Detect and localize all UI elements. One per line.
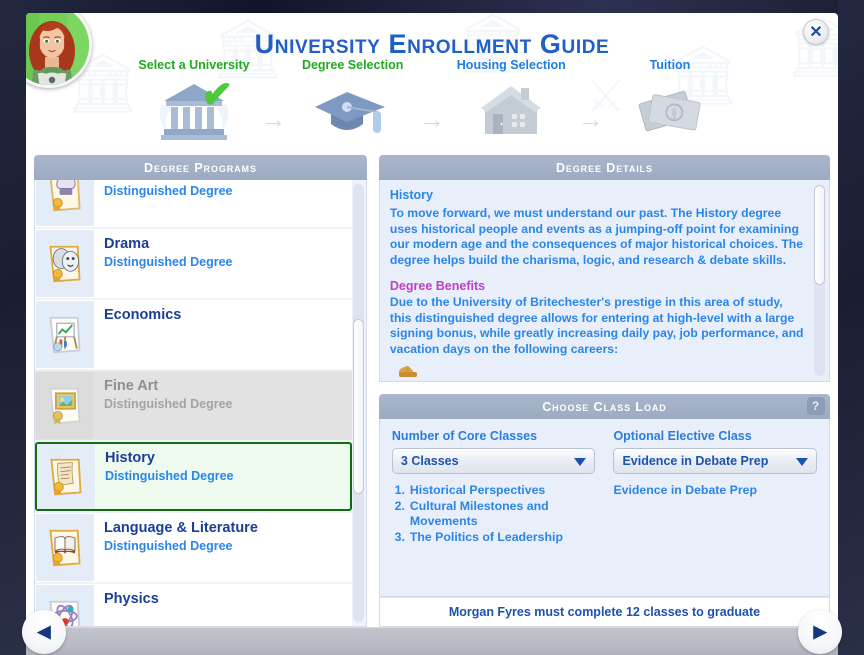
step-label: Select a University bbox=[134, 58, 254, 72]
degree-details-header: Degree Details bbox=[379, 155, 830, 180]
bottom-toolbar bbox=[26, 627, 838, 655]
scroll-diploma-icon bbox=[37, 444, 95, 509]
degree-name: Economics bbox=[104, 306, 181, 325]
degree-name: History bbox=[105, 449, 234, 468]
degree-details-panel: Degree Details History To move forward, … bbox=[379, 155, 830, 627]
list-item-text: Fine Art Distinguished Degree bbox=[94, 372, 233, 439]
step-arrow-icon: → bbox=[419, 104, 445, 135]
core-class-number: 2. bbox=[392, 499, 405, 529]
graduation-cap-icon bbox=[293, 76, 413, 144]
avatar bbox=[26, 13, 92, 88]
help-icon[interactable]: ? bbox=[807, 397, 825, 415]
elective-class-chosen: Evidence in Debate Prep bbox=[613, 483, 817, 498]
house-icon bbox=[451, 76, 571, 144]
list-item-text: Drama Distinguished Degree bbox=[94, 230, 233, 297]
screen: 🏛 🏛 🏛 🏛 🏛 ⚔ bbox=[0, 0, 864, 655]
core-class-name: The Politics of Leadership bbox=[410, 530, 563, 545]
class-load-body: Number of Core Classes 3 Classes 1. Hist… bbox=[379, 419, 830, 597]
status-suffix: classes to graduate bbox=[643, 605, 760, 619]
elective-class-column: Optional Elective Class Evidence in Deba… bbox=[613, 429, 817, 596]
degree-name: Drama bbox=[104, 235, 233, 254]
list-item[interactable]: Economics bbox=[35, 300, 352, 369]
page-title: University Enrollment Guide bbox=[26, 29, 838, 60]
elective-class-select[interactable]: Evidence in Debate Prep bbox=[613, 448, 817, 474]
core-classes-column: Number of Core Classes 3 Classes 1. Hist… bbox=[392, 429, 596, 596]
degree-details-title: History bbox=[390, 188, 807, 202]
book-diploma-icon bbox=[36, 514, 94, 581]
degree-benefits-text: Due to the University of Britechester's … bbox=[390, 295, 807, 357]
degree-programs-panel: Degree Programs bbox=[34, 155, 367, 627]
core-class-item: 1. Historical Perspectives bbox=[392, 483, 596, 498]
degree-benefits-heading: Degree Benefits bbox=[390, 279, 807, 293]
list-item-text: History Distinguished Degree bbox=[95, 444, 234, 509]
step-label: Tuition bbox=[610, 58, 730, 72]
choose-class-load-title: Choose Class Load bbox=[542, 400, 666, 414]
list-item-text: Physics bbox=[94, 585, 159, 627]
status-count: 12 bbox=[626, 605, 640, 619]
scrollbar-thumb[interactable] bbox=[814, 185, 825, 285]
chevron-down-icon bbox=[796, 458, 808, 466]
degree-details-body[interactable]: History To move forward, we must underst… bbox=[379, 180, 830, 382]
status-prefix: Morgan Fyres must complete bbox=[449, 605, 623, 619]
enrollment-dialog: 🏛 🏛 🏛 🏛 🏛 ⚔ bbox=[26, 13, 838, 627]
degree-list-scrollbar[interactable] bbox=[353, 184, 364, 622]
list-item-text: Language & Literature Distinguished Degr… bbox=[94, 514, 258, 581]
chart-easel-diploma-icon bbox=[36, 301, 94, 368]
list-item[interactable]: Culinary Arts Distinguished Degree bbox=[35, 180, 352, 227]
core-class-item: 2. Cultural Milestones and Movements bbox=[392, 499, 596, 529]
career-icon bbox=[390, 363, 430, 377]
step-housing-selection[interactable]: Housing Selection bbox=[451, 58, 571, 144]
step-progress: Select a University bbox=[134, 58, 730, 144]
degree-programs-header: Degree Programs bbox=[34, 155, 367, 180]
dialog-header: University Enrollment Guide ✕ Select a U… bbox=[26, 13, 838, 155]
graduation-requirement-status: Morgan Fyres must complete 12 classes to… bbox=[379, 597, 830, 627]
step-tuition[interactable]: Tuition § bbox=[610, 58, 730, 144]
core-class-name: Cultural Milestones and Movements bbox=[410, 499, 596, 529]
elective-class-selected-value: Evidence in Debate Prep bbox=[622, 454, 768, 468]
list-item-text: Culinary Arts Distinguished Degree bbox=[94, 180, 233, 226]
list-item-history[interactable]: History Distinguished Degree bbox=[35, 442, 352, 511]
degree-name: Fine Art bbox=[104, 377, 233, 396]
close-icon[interactable]: ✕ bbox=[803, 19, 829, 45]
core-class-item: 3. The Politics of Leadership bbox=[392, 530, 596, 545]
details-scrollbar[interactable] bbox=[814, 185, 825, 376]
next-button[interactable]: ▶ bbox=[798, 610, 842, 654]
degree-subtitle: Distinguished Degree bbox=[104, 538, 258, 555]
degree-description: To move forward, we must understand our … bbox=[390, 206, 807, 268]
step-select-a-university[interactable]: Select a University bbox=[134, 58, 254, 144]
step-arrow-icon: → bbox=[578, 104, 604, 135]
step-label: Housing Selection bbox=[451, 58, 571, 72]
list-item-text: Economics bbox=[94, 301, 181, 368]
list-item: Fine Art Distinguished Degree bbox=[35, 371, 352, 440]
previous-button[interactable]: ◀ bbox=[22, 610, 66, 654]
chef-hat-diploma-icon bbox=[36, 180, 94, 226]
step-arrow-icon: → bbox=[260, 104, 286, 135]
degree-name: Physics bbox=[104, 590, 159, 609]
content-panels: Degree Programs bbox=[26, 155, 838, 627]
choose-class-load-header: Choose Class Load ? bbox=[379, 394, 830, 419]
step-degree-selection[interactable]: Degree Selection bbox=[293, 58, 413, 144]
step-label: Degree Selection bbox=[293, 58, 413, 72]
core-class-number: 3. bbox=[392, 530, 405, 545]
avatar-portrait bbox=[26, 13, 92, 88]
list-item[interactable]: Language & Literature Distinguished Degr… bbox=[35, 513, 352, 582]
choose-class-load-section: Choose Class Load ? Number of Core Class… bbox=[379, 394, 830, 627]
degree-subtitle: Distinguished Degree bbox=[104, 396, 233, 413]
core-classes-selected-value: 3 Classes bbox=[401, 454, 459, 468]
list-item[interactable]: Physics bbox=[35, 584, 352, 627]
university-building-icon: ✔ bbox=[134, 76, 254, 144]
chevron-down-icon bbox=[574, 458, 586, 466]
degree-subtitle: Distinguished Degree bbox=[104, 254, 233, 271]
money-icon: § bbox=[610, 76, 730, 144]
game-background-left bbox=[0, 0, 26, 655]
elective-class-label: Optional Elective Class bbox=[613, 429, 817, 443]
painting-diploma-icon bbox=[36, 372, 94, 439]
game-background-right bbox=[838, 0, 864, 655]
degree-name: Language & Literature bbox=[104, 519, 258, 538]
theatre-masks-diploma-icon bbox=[36, 230, 94, 297]
core-class-number: 1. bbox=[392, 483, 405, 498]
core-classes-list: 1. Historical Perspectives 2. Cultural M… bbox=[392, 483, 596, 545]
core-classes-label: Number of Core Classes bbox=[392, 429, 596, 443]
degree-subtitle: Distinguished Degree bbox=[104, 183, 233, 200]
degree-programs-list[interactable]: Culinary Arts Distinguished Degree bbox=[34, 180, 367, 627]
degree-subtitle: Distinguished Degree bbox=[105, 468, 234, 485]
core-classes-select[interactable]: 3 Classes bbox=[392, 448, 596, 474]
core-class-name: Historical Perspectives bbox=[410, 483, 545, 498]
scrollbar-thumb[interactable] bbox=[353, 319, 364, 494]
list-item[interactable]: Drama Distinguished Degree bbox=[35, 229, 352, 298]
